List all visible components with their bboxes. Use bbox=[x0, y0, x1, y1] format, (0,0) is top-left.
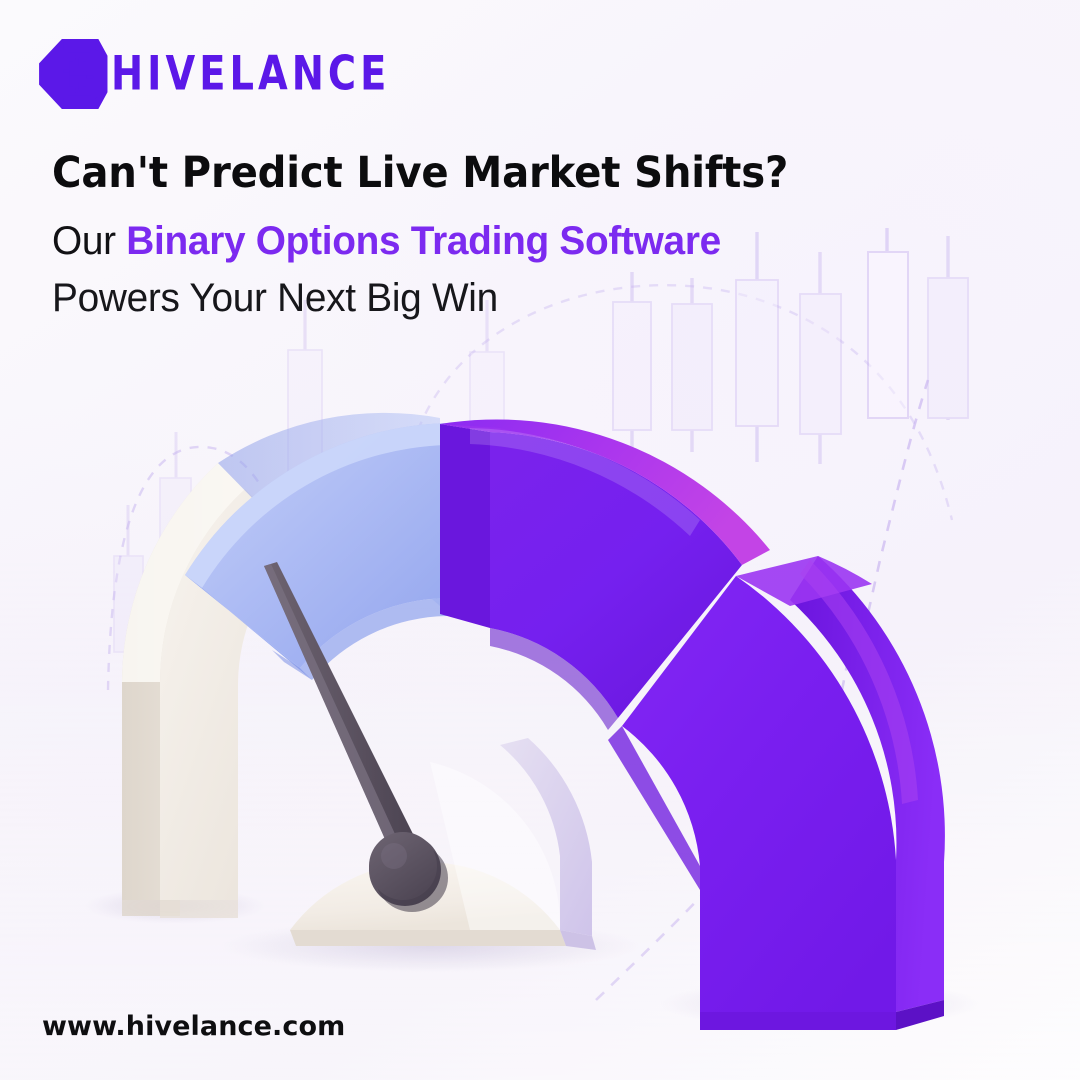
brand-logo[interactable]: HIVELANCE bbox=[33, 36, 402, 112]
subheading-prefix: Our bbox=[52, 219, 126, 263]
hexagon-circuit-logo-icon bbox=[33, 36, 109, 112]
gauge-base bbox=[290, 738, 596, 950]
subheading-highlight: Binary Options Trading Software bbox=[126, 219, 721, 263]
subheading-line-1: Our Binary Options Trading Software bbox=[52, 214, 816, 269]
brand-wordmark: HIVELANCE bbox=[111, 50, 390, 97]
website-url[interactable]: www.hivelance.com bbox=[42, 1011, 345, 1042]
page-title: Can't Predict Live Market Shifts? bbox=[52, 152, 788, 196]
headline-block: Can't Predict Live Market Shifts? Our Bi… bbox=[52, 152, 839, 326]
subheading-line-2: Powers Your Next Big Win bbox=[52, 271, 816, 326]
poster-canvas: HIVELANCE Can't Predict Live Market Shif… bbox=[0, 0, 1080, 1080]
